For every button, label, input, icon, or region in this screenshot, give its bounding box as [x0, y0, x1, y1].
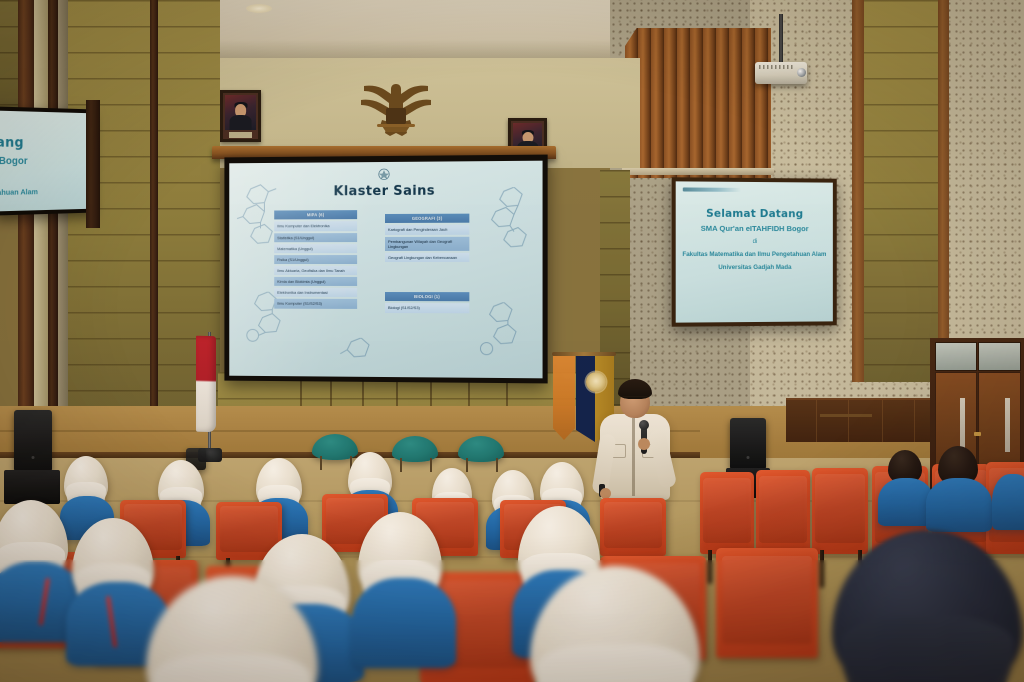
pa-speaker-left: [14, 410, 52, 472]
student-uniform-front: [352, 578, 456, 668]
pa-speaker-base: [4, 470, 60, 504]
microphone-head-icon: [639, 420, 649, 430]
main-projection-screen[interactable]: Klaster Sains MIPA (6) Ilmu Komputer dan…: [224, 155, 547, 384]
welcome-faculty-line-2: Universitas Gadjah Mada: [682, 264, 827, 273]
student-uniform-male: [992, 474, 1024, 530]
column-item: Kartografi dan Penginderaan Jauh: [385, 225, 469, 234]
slide-column-biologi: BIOLOGI (1) Biologi (S1/S2/S3): [385, 292, 469, 315]
presenter-hand-right: [638, 438, 650, 450]
left-slide-subtitle: HFIDH Bogor: [0, 156, 90, 168]
auditorium-chair-empty[interactable]: [756, 470, 810, 554]
door-transom-glass: [935, 342, 977, 371]
welcome-slide-surface: Selamat Datang SMA Qur'an eITAHFIDH Bogo…: [676, 181, 833, 322]
slat-panel-ledge: [622, 168, 774, 175]
welcome-faculty-line-1: Fakultas Matematika dan Ilmu Pengetahuan…: [682, 251, 827, 260]
banner-orange: [553, 356, 575, 440]
right-projection-screen[interactable]: Selamat Datang SMA Qur'an eITAHFIDH Bogo…: [672, 177, 837, 326]
projector-lens-icon: [797, 68, 806, 77]
stage-chair-leg: [466, 458, 468, 472]
welcome-subtitle: SMA Qur'an eITAHFIDH Bogor: [676, 224, 833, 233]
stage-chair-leg: [430, 458, 432, 472]
presenter-glasses: [623, 396, 647, 402]
wood-trim: [852, 0, 864, 382]
wood-column-left-2: [48, 0, 58, 430]
left-projection-screen[interactable]: Datang HFIDH Bogor mu Pengetahuan Alam a…: [0, 106, 94, 215]
auditorium-chair-empty[interactable]: [700, 472, 754, 554]
column-header: MIPA (6): [274, 210, 357, 220]
door-transom-glass: [978, 342, 1021, 371]
door-handle[interactable]: [974, 432, 981, 436]
column-item: Matematika (Unggul): [274, 244, 357, 253]
welcome-connector: di: [676, 239, 833, 245]
ugm-wordmark-icon: [683, 187, 741, 191]
column-item: Elektronika dan Instrumentasi: [274, 288, 357, 297]
column-header: GEOGRAFI (3): [385, 214, 469, 224]
stage-chair-leg: [496, 458, 498, 472]
auditorium-scene: Klaster Sains MIPA (6) Ilmu Komputer dan…: [0, 0, 1024, 682]
chair-leg: [820, 550, 824, 588]
ceiling-light: [246, 4, 272, 13]
auditorium-chair[interactable]: [600, 498, 666, 556]
left-slide-university: adjah Mada: [0, 196, 90, 209]
chair-leg: [708, 550, 712, 584]
welcome-title: Selamat Datang: [676, 208, 833, 221]
wood-slat-acoustic-panel: [625, 28, 771, 178]
molecule-doodle-icon: [337, 338, 377, 378]
left-slide-surface: Datang HFIDH Bogor mu Pengetahuan Alam a…: [0, 111, 90, 212]
presenter-jacket-placket: [632, 418, 635, 496]
wood-mullion: [150, 0, 158, 448]
banner-crossbar: [552, 352, 616, 356]
wall-panel-olive-right: [862, 0, 940, 382]
left-slide-title: Datang: [0, 135, 90, 151]
column-item: Ilmu Komputer (S1/S2/S3): [274, 299, 357, 308]
wood-trim: [938, 0, 949, 382]
student-uniform-male: [926, 478, 992, 532]
stage-chair-leg: [320, 456, 322, 470]
indonesian-flag: [196, 336, 216, 433]
wood-column-left: [18, 0, 34, 430]
garuda-pancasila-emblem: [360, 78, 432, 140]
molecule-doodle-icon: [477, 302, 524, 367]
slide-title: Klaster Sains: [229, 183, 542, 200]
column-item: Pembangunan Wilayah dan Geografi Lingkun…: [385, 236, 469, 251]
column-item: Kimia dan Biokimia (Unggul): [274, 277, 357, 286]
column-item: Statistika (S1/Unggul): [274, 233, 357, 242]
auditorium-chair-empty[interactable]: [812, 468, 868, 554]
stage-chair-leg: [400, 458, 402, 472]
portrait-president: [220, 90, 261, 142]
projector-mount-rod: [779, 14, 783, 64]
wall-strip-grey: [58, 0, 68, 430]
column-item: Biologi (S1/S2/S3): [385, 303, 469, 312]
column-item: Geografi Lingkungan dan Kebencanaan: [385, 253, 469, 262]
table-edge: [820, 414, 872, 417]
pa-speaker-right: [730, 418, 766, 470]
projector-vents: [759, 65, 793, 69]
column-item: Ilmu Komputer dan Elektronika: [274, 221, 357, 230]
wall-strip-cream: [34, 0, 48, 430]
column-item: Ilmu Aktuaria, Geofisika dan Ilmu Tanah: [274, 266, 357, 275]
slide-column-geografi: GEOGRAFI (3) Kartografi dan Penginderaan…: [385, 214, 469, 264]
auditorium-chair-front[interactable]: [716, 548, 818, 658]
main-slide-surface: Klaster Sains MIPA (6) Ilmu Komputer dan…: [229, 161, 542, 379]
ugm-logo-icon: [377, 168, 391, 182]
column-header: BIOLOGI (1): [385, 292, 469, 302]
slide-column-mipa: MIPA (6) Ilmu Komputer dan Elektronika S…: [274, 210, 357, 310]
left-screen-frame-edge: [86, 100, 100, 228]
column-item: Fisika (S1/Unggul): [274, 255, 357, 264]
